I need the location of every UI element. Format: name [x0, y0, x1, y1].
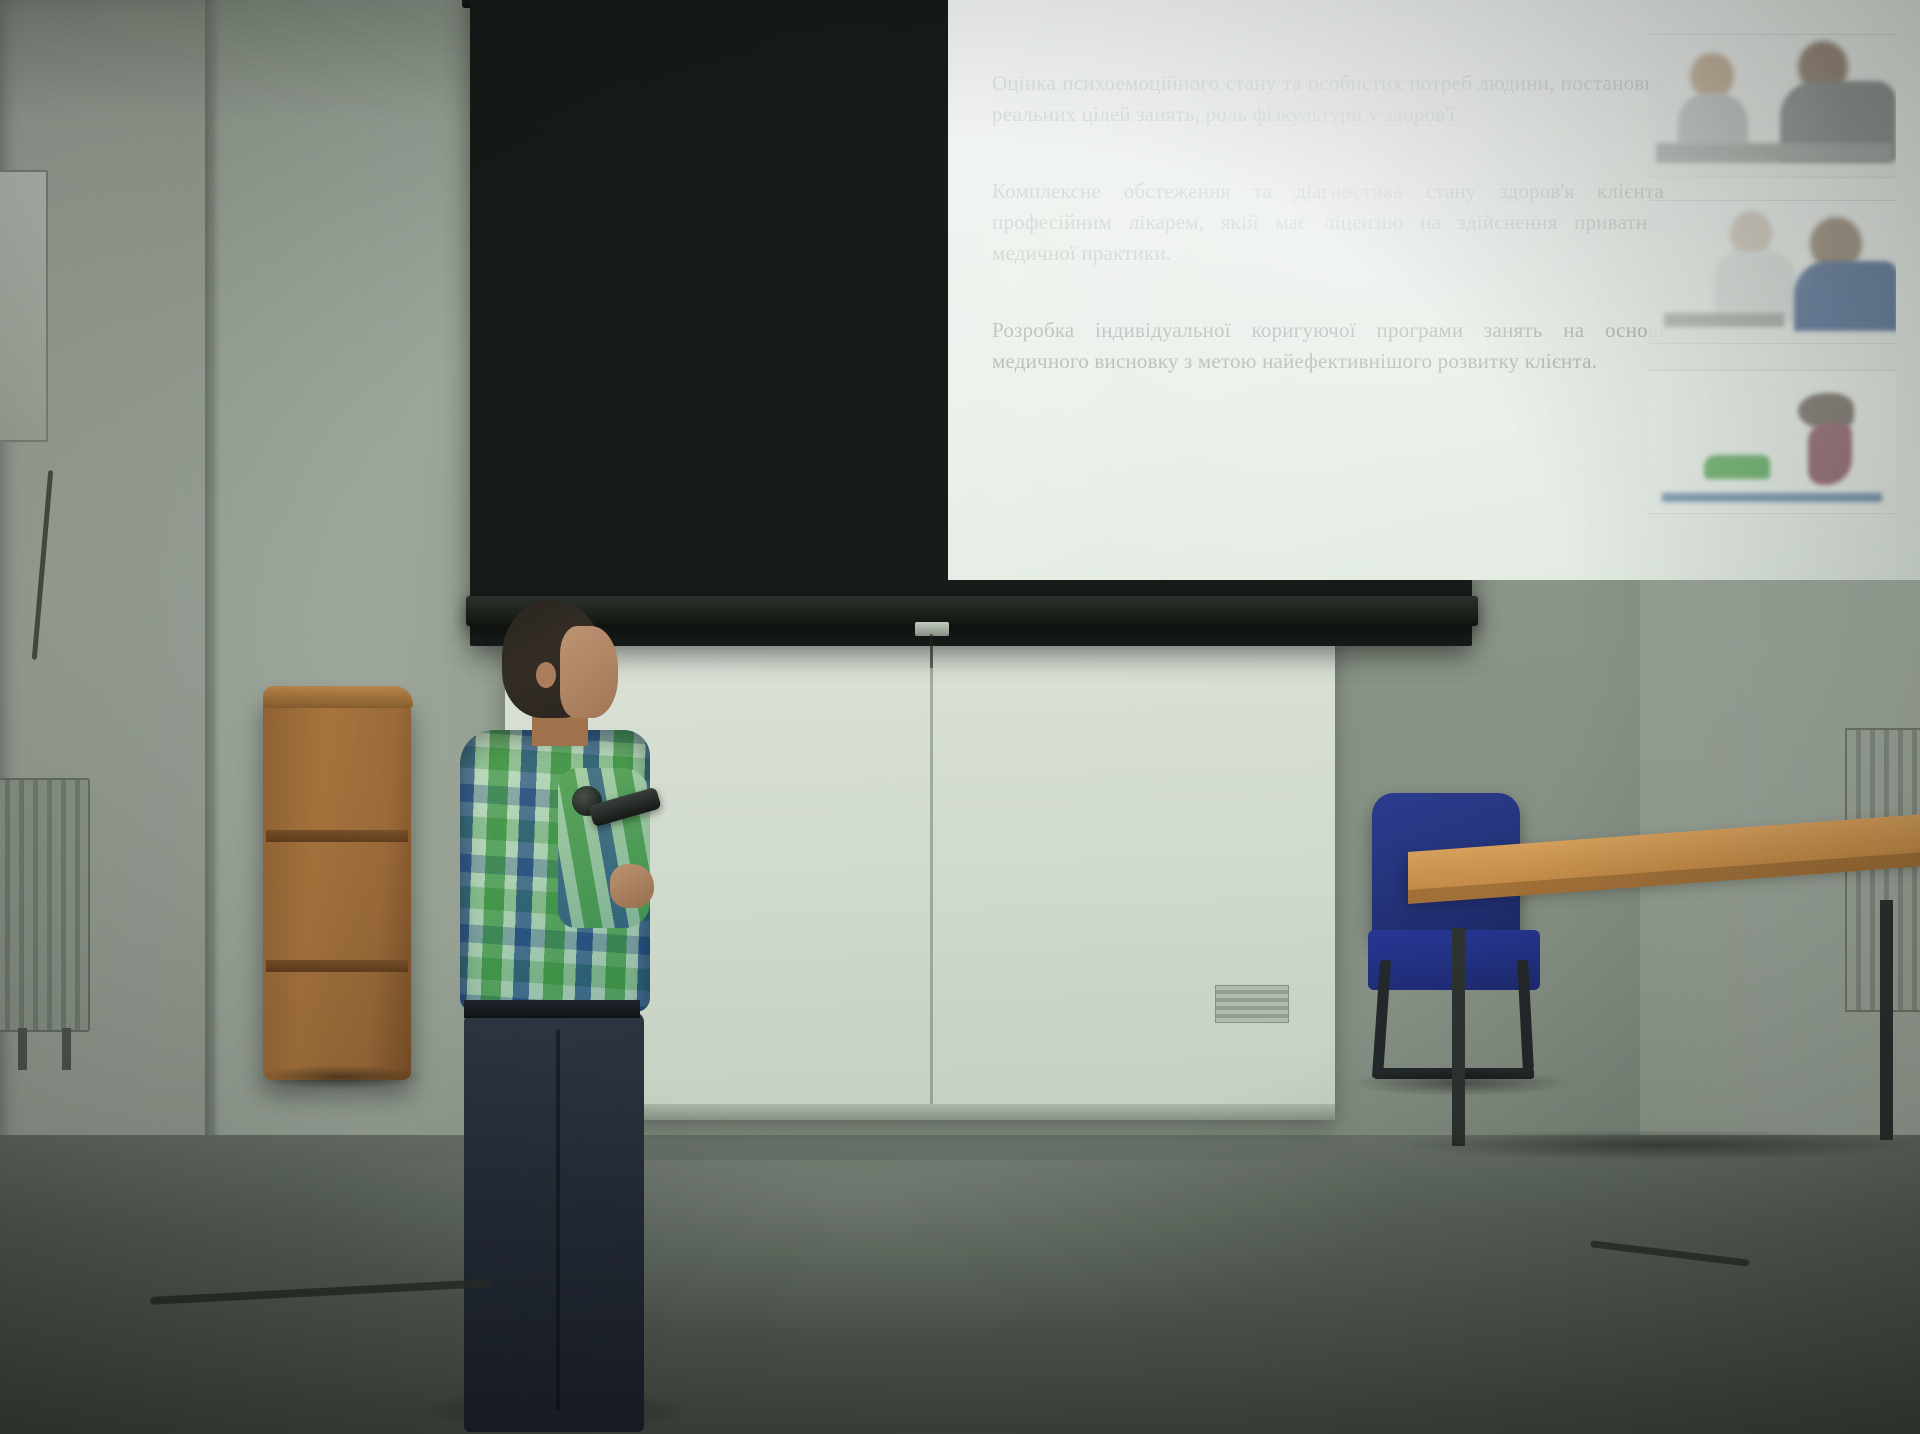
table-leg — [1452, 928, 1465, 1146]
wall-panel — [0, 170, 48, 442]
slide-photo-strip — [1648, 34, 1896, 512]
training-shoe-photo — [1648, 370, 1896, 514]
projection-screen: КОМПЛЕКСНИЙ ПІДХІД ДО ЗДОРОВ'Я КЛІЄНТА —… — [470, 0, 1472, 646]
presenter-trousers — [464, 1012, 644, 1432]
wooden-cabinet-shelf — [266, 960, 408, 972]
cabinet-door-seam — [930, 640, 933, 1108]
slide-paragraph-1: Оцінка психоемоційного стану та особисти… — [992, 68, 1664, 130]
trouser-seam — [556, 1030, 560, 1410]
slide-paragraph-2: Комплексне обстеження та діагностика ста… — [992, 176, 1664, 269]
screen-pull-cord[interactable] — [930, 634, 933, 668]
wooden-cabinet-shelf — [266, 830, 408, 842]
table-leg — [1880, 900, 1893, 1140]
radiator-left — [0, 778, 90, 1032]
radiator-leg — [62, 1028, 71, 1070]
slide-body: Оцінка психоемоційного стану та особисти… — [992, 68, 1664, 423]
presentation-slide: КОМПЛЕКСНИЙ ПІДХІД ДО ЗДОРОВ'Я КЛІЄНТА —… — [948, 0, 1920, 580]
presenter-belt — [464, 1000, 640, 1018]
vent-grille — [1215, 985, 1289, 1023]
wooden-cabinet — [263, 690, 411, 1080]
table-floor-shadow — [1410, 1130, 1910, 1160]
consultation-photo — [1648, 34, 1896, 178]
presenter-hand — [610, 864, 654, 908]
presenter-face — [560, 626, 618, 718]
lecture-room-photo: КОМПЛЕКСНИЙ ПІДХІД ДО ЗДОРОВ'Я КЛІЄНТА —… — [0, 0, 1920, 1434]
wooden-cabinet-top — [263, 686, 413, 708]
radiator-leg — [18, 1028, 27, 1070]
cabinet-floor-shadow — [255, 1065, 425, 1089]
presenter — [440, 600, 670, 1434]
presenter-ear — [536, 662, 556, 688]
doctor-patient-photo — [1648, 200, 1896, 344]
slide-paragraph-3: Розробка індивідуальної коригуючої прогр… — [992, 315, 1664, 377]
